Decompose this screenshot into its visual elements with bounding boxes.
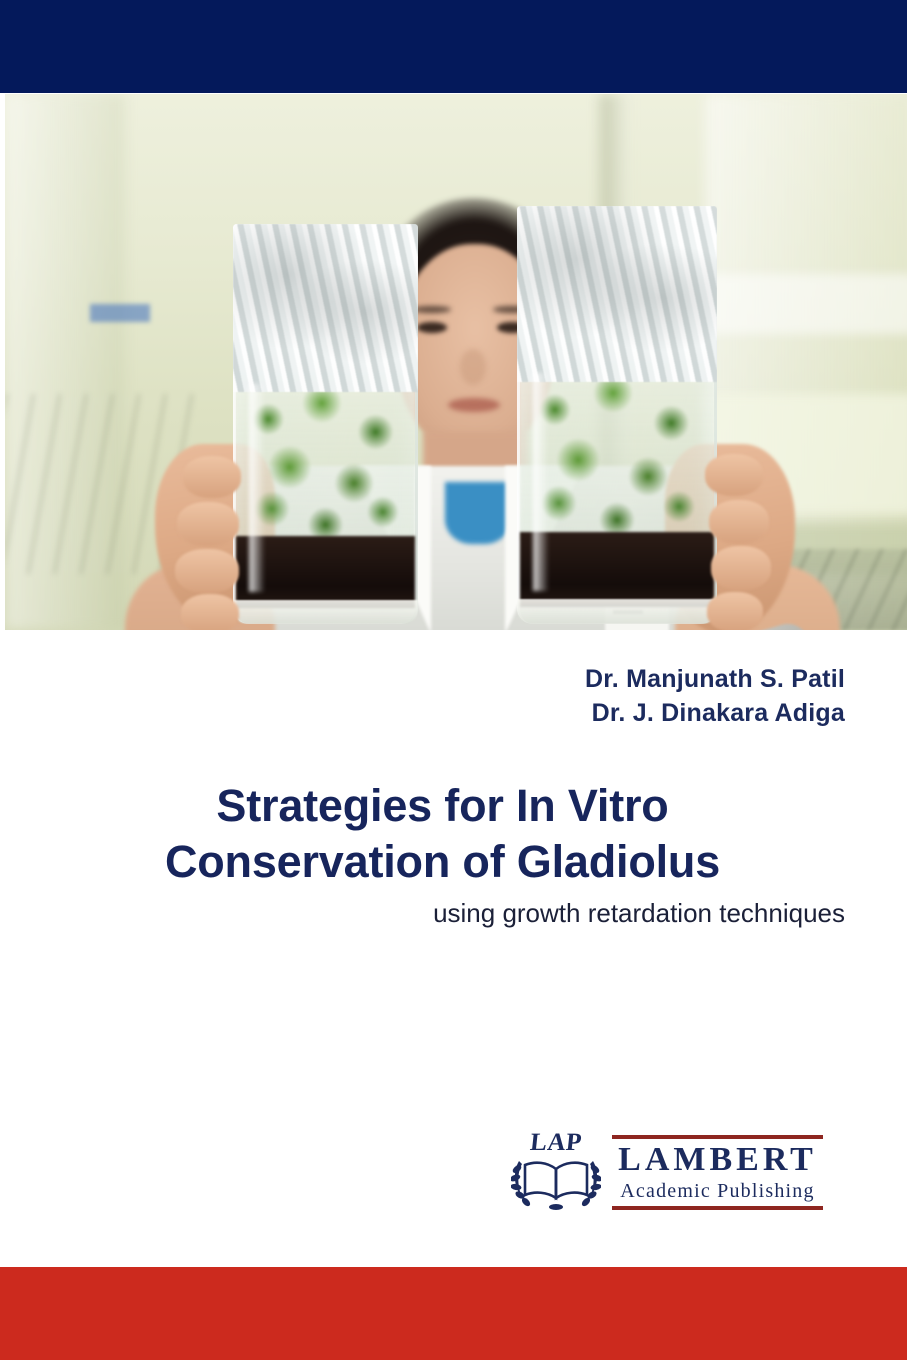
- finger: [181, 594, 239, 630]
- publisher-name-block: LAMBERT Academic Publishing: [612, 1135, 823, 1210]
- jar-base: [517, 599, 717, 624]
- jar-foil-cap: [517, 206, 717, 382]
- culture-jar-right: [517, 206, 717, 624]
- book-cover: Dr. Manjunath S. Patil Dr. J. Dinakara A…: [0, 0, 907, 1360]
- bottom-color-band: [0, 1267, 907, 1360]
- publisher-tagline: Academic Publishing: [612, 1179, 823, 1206]
- publisher-logo: LAP: [508, 1128, 823, 1216]
- book-title-line-1: Strategies for In Vitro: [40, 778, 845, 834]
- background-blue-label: [90, 304, 150, 322]
- photo-scene: [5, 94, 907, 630]
- person-mouth: [448, 398, 500, 412]
- finger: [175, 549, 239, 593]
- finger: [709, 500, 769, 544]
- finger: [707, 592, 763, 630]
- jar-growth-medium: [520, 532, 714, 607]
- top-color-band: [0, 0, 907, 93]
- person-nose: [460, 349, 486, 385]
- lap-logo-mark: LAP: [508, 1129, 604, 1215]
- author-list: Dr. Manjunath S. Patil Dr. J. Dinakara A…: [40, 662, 845, 730]
- finger: [711, 546, 771, 590]
- jar-plantlets: [520, 373, 714, 540]
- book-title: Strategies for In Vitro Conservation of …: [40, 778, 845, 890]
- person-eyebrow-left: [413, 306, 451, 313]
- book-subtitle: using growth retardation techniques: [40, 896, 845, 930]
- jar-foil-cap: [233, 224, 418, 392]
- background-shelf-upper: [695, 274, 907, 334]
- cover-photograph: [5, 94, 907, 630]
- finger: [177, 502, 239, 546]
- blue-shirt-collar: [445, 482, 511, 544]
- author-name: Dr. J. Dinakara Adiga: [40, 696, 845, 730]
- culture-jar-left: [233, 224, 418, 624]
- jar-highlight: [249, 384, 265, 592]
- finger: [183, 456, 241, 498]
- book-title-line-2: Conservation of Gladiolus: [40, 834, 845, 890]
- publisher-name: LAMBERT: [612, 1139, 823, 1179]
- logo-rule-bottom: [612, 1206, 823, 1210]
- jar-highlight: [533, 373, 549, 590]
- open-book-wreath-icon: [511, 1147, 601, 1211]
- jar-base: [233, 600, 418, 624]
- author-name: Dr. Manjunath S. Patil: [40, 662, 845, 696]
- person-eye-left: [417, 322, 447, 333]
- finger: [705, 454, 763, 496]
